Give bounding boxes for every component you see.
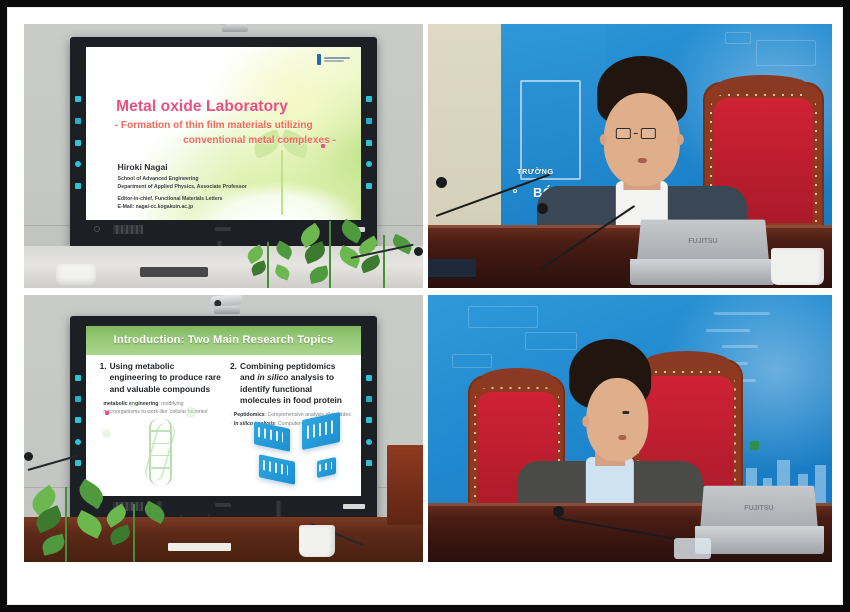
dna-helix-icon (124, 418, 190, 486)
topic-2-text-em: in silico (257, 372, 288, 382)
cup-icon (56, 264, 96, 285)
meeting-room-scene: Metal oxide Laboratory - Formation of th… (24, 24, 423, 288)
slide-two-research-topics: Introduction: Two Main Research Topics 1… (86, 326, 361, 497)
camera-base (222, 24, 248, 32)
binder-icon (428, 259, 476, 277)
speaker-1-scene: TRƯỜNG BÓ (428, 24, 832, 288)
laptop-icon[interactable]: FUJITSU (630, 219, 775, 285)
topic-2-number: 2. (230, 361, 237, 407)
potted-plant-icon (303, 214, 359, 288)
laptop-base (695, 526, 824, 554)
water-bottle-icon (674, 538, 710, 559)
slide-subtitle-line1: - Formation of thin film materials utili… (115, 120, 313, 131)
display-brand-mark (215, 503, 231, 507)
microphone-head (436, 177, 447, 188)
glasses-icon (616, 128, 656, 139)
power-button[interactable] (94, 226, 100, 232)
laptop-brand: FUJITSU (745, 504, 774, 511)
potted-plant-icon (108, 493, 164, 562)
bubble-art (102, 429, 111, 438)
speaker-2-scene: FUJITSU (428, 295, 832, 562)
cursor-dot (105, 411, 109, 415)
display-screen[interactable]: Introduction: Two Main Research Topics 1… (86, 326, 361, 497)
topic-1-text: Using metabolic engineering to produce r… (110, 361, 222, 395)
university-logo-icon (317, 54, 350, 65)
presenter-contact: Editor-in-chief, Functional Materials Le… (117, 196, 222, 212)
banner-bullet-icon (513, 189, 517, 193)
data-screens-icon (254, 411, 339, 486)
potted-plant-icon (359, 225, 411, 288)
display-bezel-icon-right[interactable] (365, 96, 372, 189)
photo-panel-top-right[interactable]: TRƯỜNG BÓ (428, 24, 832, 288)
display-bezel-icon-right[interactable] (365, 375, 372, 467)
camera-base (214, 306, 240, 314)
slide-header-title: Introduction: Two Main Research Topics (114, 334, 334, 346)
eye (622, 411, 629, 414)
potted-plant-icon (247, 230, 291, 288)
topic-1-subpoints: · metabolic engineering: modifying micro… (100, 400, 222, 417)
topic-1-point: 1. Using metabolic engineering to produc… (100, 361, 222, 395)
microphone-head (24, 452, 33, 461)
chair-edge (387, 445, 423, 525)
laptop-brand: FUJITSU (688, 238, 717, 245)
collage-mat: Metal oxide Laboratory - Formation of th… (7, 7, 843, 605)
topic-1-sub-0: · metabolic engineering: modifying micro… (100, 400, 222, 417)
slide-subtitle: - Formation of thin film materials utili… (115, 119, 339, 148)
logo-badge-icon (750, 441, 759, 450)
contact-line2: E-Mail: nagai-cc.kogakuin.ac.jp (117, 204, 222, 212)
potted-plant-icon (36, 477, 100, 562)
display-bezel-icon-left[interactable] (75, 375, 82, 467)
head (604, 93, 680, 186)
display-screen[interactable]: Metal oxide Laboratory - Formation of th… (86, 47, 361, 220)
affiliation-line1: School of Advanced Engineering (117, 175, 246, 183)
slide-subtitle-line2: conventional metal complexes - (115, 134, 339, 149)
slide-header-bar: Introduction: Two Main Research Topics (86, 326, 361, 355)
meeting-room-scene: Introduction: Two Main Research Topics 1… (24, 295, 423, 562)
affiliation-line2: Department of Applied Physics, Associate… (117, 183, 246, 191)
slide-metal-oxide-laboratory: Metal oxide Laboratory - Formation of th… (86, 47, 361, 220)
bubble-art (185, 407, 196, 418)
photo-panel-bottom-right[interactable]: FUJITSU (428, 295, 832, 562)
laptop-base (630, 259, 775, 285)
presenter-name: Hiroki Nagai (117, 162, 167, 172)
topic-2-point: 2. Combining peptidomics and in silico a… (230, 361, 352, 407)
microphone-head (553, 506, 564, 517)
cup-icon (299, 525, 335, 557)
laptop-lid: FUJITSU (637, 220, 769, 261)
mouth (618, 435, 626, 440)
microphone-head (366, 500, 375, 509)
keyboard-icon (140, 267, 208, 278)
presenter-affiliation: School of Advanced Engineering Departmen… (117, 175, 246, 191)
paper-document (168, 543, 232, 551)
mouth (638, 158, 647, 163)
photo-panel-top-left[interactable]: Metal oxide Laboratory - Formation of th… (24, 24, 423, 288)
contact-line1: Editor-in-chief, Functional Materials Le… (117, 196, 222, 204)
slide-title: Metal oxide Laboratory (116, 98, 288, 116)
display-bezel-icon-left[interactable] (75, 96, 82, 189)
photo-panel-bottom-left[interactable]: Introduction: Two Main Research Topics 1… (24, 295, 423, 562)
display-brand-mark (215, 227, 231, 231)
cup-icon (771, 248, 824, 285)
collage-frame: Metal oxide Laboratory - Formation of th… (0, 0, 850, 612)
ptz-camera-icon (212, 24, 256, 32)
topic-1-number: 1. (100, 361, 107, 395)
bubble-art (130, 402, 136, 408)
display-ports[interactable] (113, 225, 143, 234)
laptop-icon[interactable]: FUJITSU (695, 485, 824, 554)
ptz-camera-icon (204, 295, 248, 314)
laptop-lid: FUJITSU (701, 485, 818, 528)
display-logo-right (343, 504, 365, 509)
head (587, 378, 648, 461)
